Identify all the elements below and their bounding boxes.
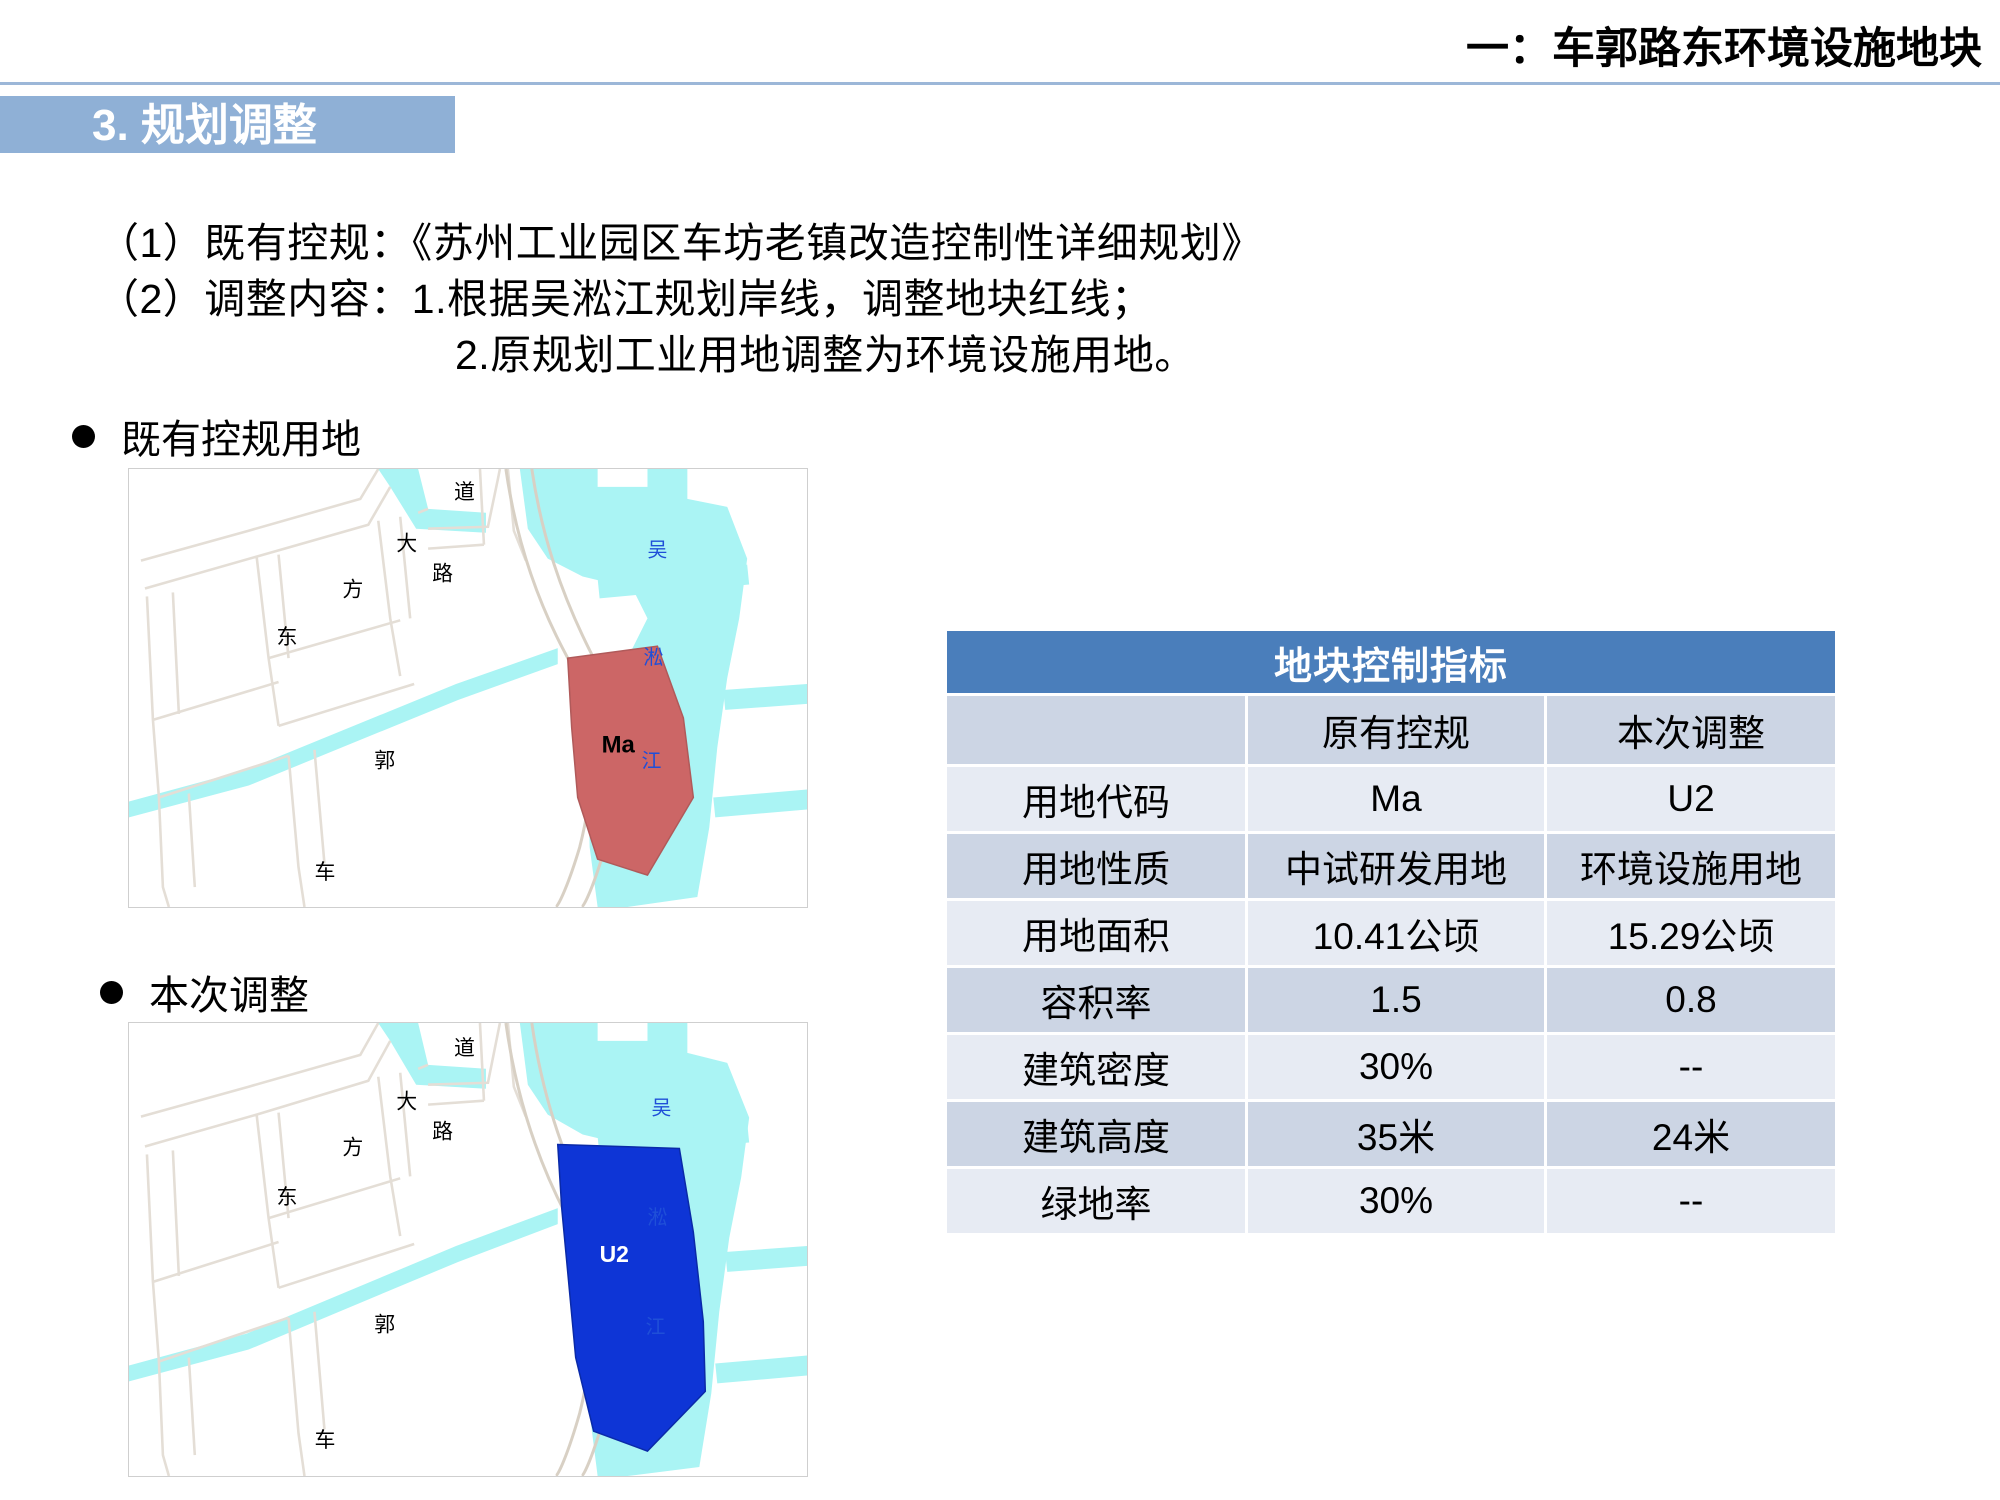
table-row: 用地面积 10.41公顷 15.29公顷 [947,901,1835,965]
column-header-blank [947,696,1245,764]
map-label-road-6: 郭 [374,750,395,773]
map-label-road-1: 道 [454,1037,475,1060]
table-row: 建筑高度 35米 24米 [947,1102,1835,1166]
body-line-3: 2.原规划工业用地调整为环境设施用地。 [98,327,1598,383]
row-label: 建筑高度 [947,1102,1245,1166]
row-label: 用地代码 [947,767,1245,831]
map-label-road-2: 大 [396,533,417,556]
row-value-original: 10.41公顷 [1248,901,1544,965]
row-value-original: 35米 [1248,1102,1544,1166]
row-label: 用地性质 [947,834,1245,898]
row-value-adjusted: 环境设施用地 [1547,834,1835,898]
map-label-river-1: 吴 [647,540,667,562]
map-label-road-5: 东 [277,1186,298,1209]
row-value-original: 1.5 [1248,968,1544,1032]
row-value-adjusted: 24米 [1547,1102,1835,1166]
page-title: 3. 规划调整 [92,97,317,154]
row-value-original: 30% [1248,1035,1544,1099]
row-value-original: 中试研发用地 [1248,834,1544,898]
map-adjusted-plan[interactable]: 道 大 路 方 东 郭 车 吴 淞 江 U2 [128,1022,808,1477]
header-title: 一：车郭路东环境设施地块 [1466,14,1982,76]
table-title-row: 地块控制指标 [947,631,1835,693]
header-divider [0,82,2000,85]
bullet-existing-label: 既有控规用地 [121,407,361,465]
table-row: 用地性质 中试研发用地 环境设施用地 [947,834,1835,898]
body-text-block: （1）既有控规：《苏州工业园区车坊老镇改造控制性详细规划》 （2）调整内容：1.… [98,215,1598,383]
table-title: 地块控制指标 [947,631,1835,693]
column-header-adjusted: 本次调整 [1547,696,1835,764]
table-column-header-row: 原有控规 本次调整 [947,696,1835,764]
bullet-existing-plan: 既有控规用地 [72,407,361,465]
body-line-2: （2）调整内容：1.根据吴淞江规划岸线，调整地块红线； [98,271,1598,327]
map-label-road-3: 路 [432,563,453,586]
table-row: 容积率 1.5 0.8 [947,968,1835,1032]
map-label-river-2: 淞 [647,1206,667,1229]
row-label: 用地面积 [947,901,1245,965]
table-row: 用地代码 Ma U2 [947,767,1835,831]
bullet-dot-icon [72,425,95,448]
map-adjusted-graphic: 道 大 路 方 东 郭 车 吴 淞 江 U2 [129,1023,807,1476]
body-line-1: （1）既有控规：《苏州工业园区车坊老镇改造控制性详细规划》 [98,215,1598,271]
map-label-road-4: 方 [342,578,363,601]
map-label-river-2: 淞 [643,646,663,669]
bullet-adjusted-label: 本次调整 [149,963,309,1021]
column-header-original: 原有控规 [1248,696,1544,764]
map-label-road-5: 东 [277,626,298,649]
map-label-road-6: 郭 [374,1314,395,1337]
row-value-adjusted: -- [1547,1035,1835,1099]
row-label: 容积率 [947,968,1245,1032]
row-value-original: Ma [1248,767,1544,831]
plot-control-indicator-table: 地块控制指标 原有控规 本次调整 用地代码 Ma U2 用地性质 中试研发用地 … [944,628,1838,1236]
map-label-road-1: 道 [454,481,475,504]
map-parcel-code-ma: Ma [602,732,636,759]
map-existing-plan[interactable]: 道 大 路 方 东 郭 车 吴 淞 江 Ma [128,468,808,908]
map-label-road-3: 路 [432,1121,453,1144]
map-label-river-1: 吴 [651,1098,671,1120]
table-row: 建筑密度 30% -- [947,1035,1835,1099]
map-label-road-7: 车 [314,1429,335,1452]
row-value-adjusted: U2 [1547,767,1835,831]
map-existing-graphic: 道 大 路 方 东 郭 车 吴 淞 江 Ma [129,469,807,907]
map-label-road-7: 车 [314,861,335,884]
table-row: 绿地率 30% -- [947,1169,1835,1233]
row-value-adjusted: -- [1547,1169,1835,1233]
row-value-adjusted: 0.8 [1547,968,1835,1032]
map-label-river-3: 江 [645,1316,665,1339]
row-value-original: 30% [1248,1169,1544,1233]
map-parcel-code-u2: U2 [600,1241,629,1267]
bullet-adjusted-plan: 本次调整 [100,963,309,1021]
map-label-road-4: 方 [342,1136,363,1159]
map-label-road-2: 大 [396,1091,417,1114]
row-label: 建筑密度 [947,1035,1245,1099]
row-label: 绿地率 [947,1169,1245,1233]
map-label-river-3: 江 [641,750,661,773]
slide-header: 一：车郭路东环境设施地块 [0,0,2000,84]
bullet-dot-icon [100,981,123,1004]
row-value-adjusted: 15.29公顷 [1547,901,1835,965]
